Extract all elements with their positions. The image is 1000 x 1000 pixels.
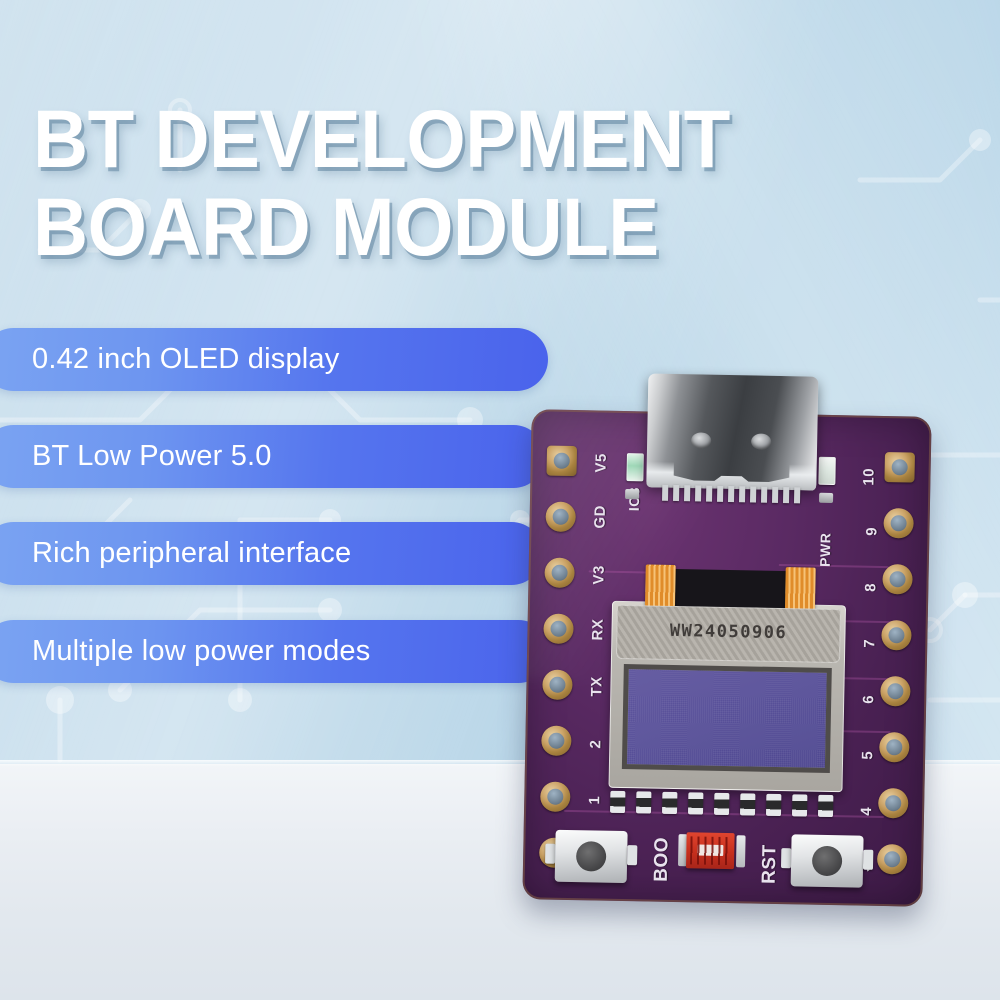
feature-pill-label: 0.42 inch OLED display xyxy=(32,343,339,376)
usb-c-connector[interactable] xyxy=(646,373,818,488)
feature-pill-label: Rich peripheral interface xyxy=(32,537,351,570)
feature-pill-label: Multiple low power modes xyxy=(32,635,370,668)
page-title: BT DEVELOPMENT BOARD MODULE xyxy=(33,96,805,272)
usb-solder-legs xyxy=(662,485,802,504)
feature-pill-oled: 0.42 inch OLED display xyxy=(0,328,548,391)
feature-pill-label: BT Low Power 5.0 xyxy=(32,440,272,473)
usb-dimple-right xyxy=(751,433,771,449)
feature-pill-bluetooth: BT Low Power 5.0 xyxy=(0,425,545,488)
feature-pill-peripheral: Rich peripheral interface xyxy=(0,522,543,585)
feature-pill-power-modes: Multiple low power modes xyxy=(0,620,550,683)
usb-dimple-left xyxy=(691,432,711,448)
product-image-dev-board: V5 GD V3 RX TX 2 1 0 10 9 8 7 xyxy=(497,368,957,928)
product-banner: BT DEVELOPMENT BOARD MODULE 0.42 inch OL… xyxy=(0,0,1000,1000)
